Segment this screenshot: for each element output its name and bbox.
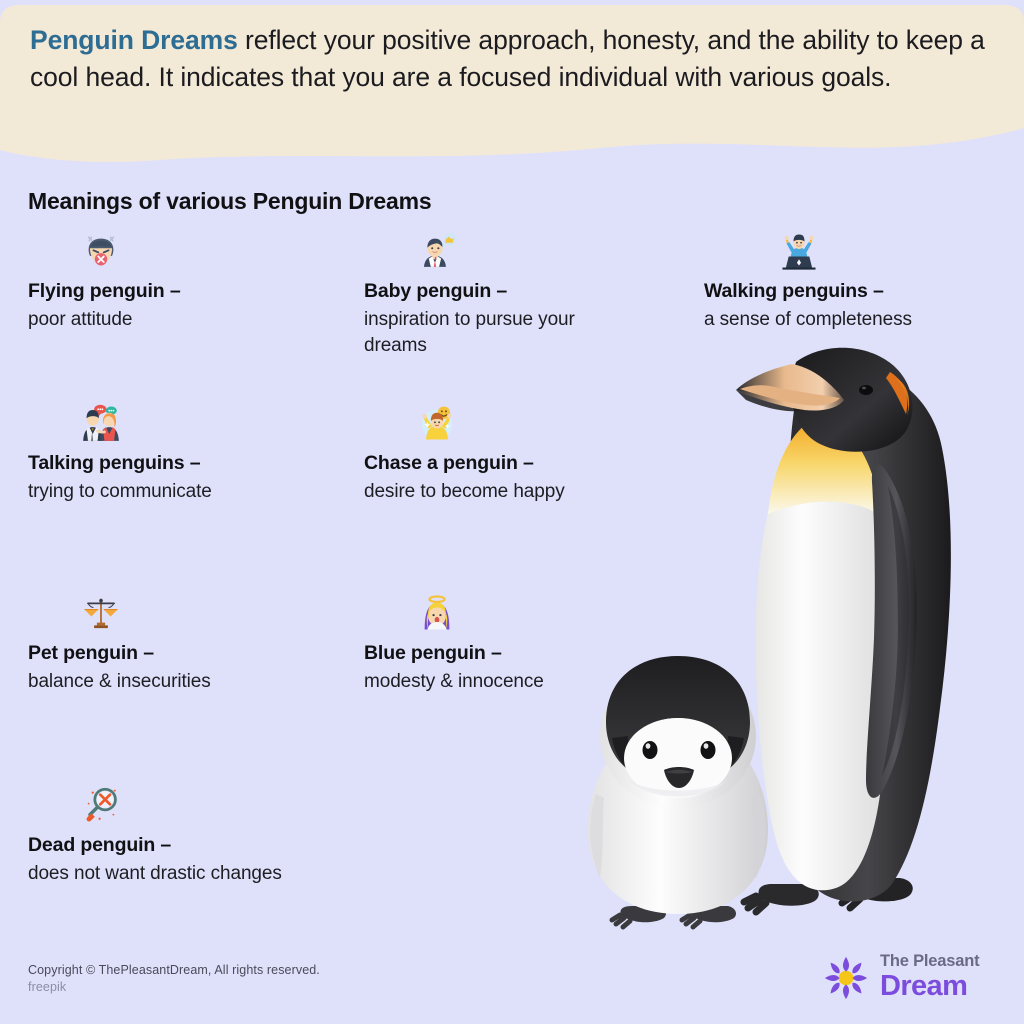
item-title: Dead penguin – <box>28 834 171 857</box>
flower-logo-icon <box>820 952 872 1004</box>
item-description: inspiration to pursue your dreams <box>364 307 579 359</box>
item-description: balance & insecurities <box>28 669 211 695</box>
thinking-businessman-icon <box>414 228 460 274</box>
logo-bottom-text: Dream <box>880 970 967 1003</box>
banner-highlight: Penguin Dreams <box>30 25 238 55</box>
item-title: Chase a penguin – <box>364 452 534 475</box>
logo-top-text: The Pleasant <box>880 952 979 971</box>
brand-logo[interactable]: The Pleasant Dream <box>820 946 1010 1008</box>
item-title: Walking penguins – <box>704 280 884 303</box>
emperor-penguin-adult-and-chick-graphic <box>560 318 1024 946</box>
infographic-canvas: Penguin Dreams reflect your positive app… <box>0 0 1024 1024</box>
item-description: poor attitude <box>28 307 132 333</box>
copyright-text: Copyright © ThePleasantDream, All rights… <box>28 962 320 979</box>
celebrating-person-laptop-icon <box>776 228 822 274</box>
item-description: modesty & innocence <box>364 669 544 695</box>
image-credit-text: freepik <box>28 980 66 994</box>
item-description: desire to become happy <box>364 479 565 505</box>
scales-balance-icon <box>78 590 124 636</box>
happy-person-icon <box>414 400 460 446</box>
item-title: Talking penguins – <box>28 452 200 475</box>
item-title: Pet penguin – <box>28 642 154 665</box>
item-title: Flying penguin – <box>28 280 181 303</box>
two-people-talking-icon <box>78 400 124 446</box>
header-banner: Penguin Dreams reflect your positive app… <box>0 0 1024 172</box>
angel-icon <box>414 590 460 636</box>
section-title: Meanings of various Penguin Dreams <box>28 188 431 215</box>
item-description: trying to communicate <box>28 479 212 505</box>
item-description: does not want drastic changes <box>28 861 282 887</box>
angry-face-icon <box>78 228 124 274</box>
banner-paragraph: Penguin Dreams reflect your positive app… <box>30 22 998 96</box>
magnifier-cross-icon <box>78 782 124 828</box>
item-title: Blue penguin – <box>364 642 502 665</box>
item-title: Baby penguin – <box>364 280 507 303</box>
penguin-illustration <box>560 318 1024 946</box>
